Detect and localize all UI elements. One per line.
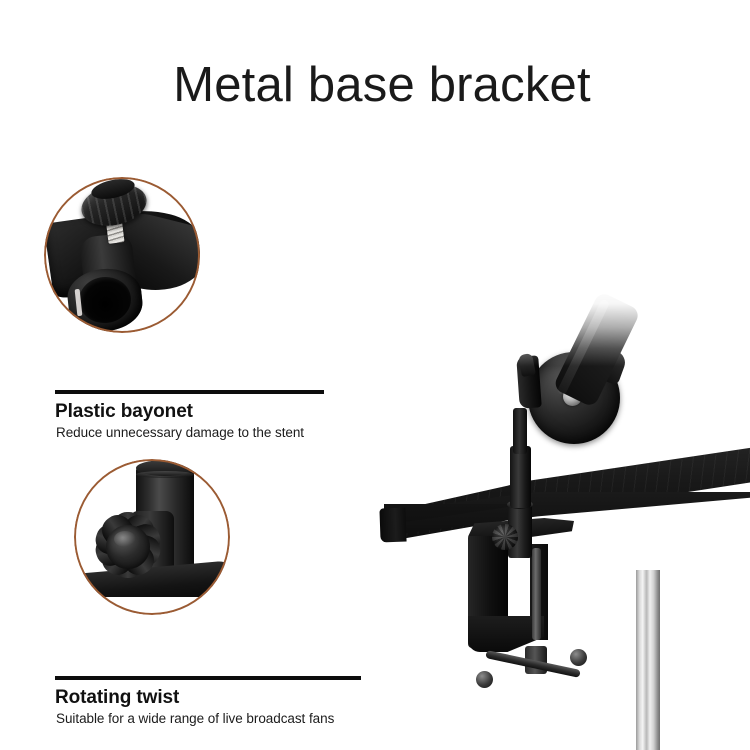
knob-highlight bbox=[114, 531, 136, 547]
feature-title: Plastic bayonet bbox=[55, 402, 193, 421]
post-upper-section bbox=[510, 446, 531, 508]
detail-photo-rotating-twist bbox=[74, 459, 230, 615]
feature-divider-rule bbox=[55, 676, 361, 680]
t-handle-ball[interactable] bbox=[476, 671, 493, 688]
detail-photo-plastic-bayonet bbox=[44, 177, 200, 333]
feature-subtitle: Reduce unnecessary damage to the stent bbox=[56, 426, 304, 440]
page-title: Metal base bracket bbox=[0, 61, 750, 110]
rotating-twist-knob bbox=[90, 507, 166, 583]
post-adjustment-knob-ridges bbox=[492, 524, 518, 550]
desk-clamp-bracket-mounted-on-table-edge bbox=[380, 296, 750, 750]
chrome-table-leg bbox=[636, 570, 660, 750]
infographic-canvas: Metal base bracket Plastic bayonet Reduc… bbox=[0, 0, 750, 750]
post-top-stem bbox=[513, 408, 527, 454]
twist-tube-ring bbox=[136, 471, 194, 478]
feature-title: Rotating twist bbox=[55, 688, 179, 707]
clamp-screw-rod bbox=[532, 548, 541, 640]
rotating-twist-knob-closeup bbox=[74, 459, 230, 615]
twist-base-plate-mask bbox=[76, 597, 230, 613]
plastic-bayonet-socket-closeup bbox=[44, 177, 200, 333]
desk-left-cap bbox=[379, 508, 406, 543]
feature-subtitle: Suitable for a wide range of live broadc… bbox=[56, 712, 334, 726]
feature-divider-rule bbox=[55, 390, 324, 394]
t-handle-ball[interactable] bbox=[570, 649, 587, 666]
